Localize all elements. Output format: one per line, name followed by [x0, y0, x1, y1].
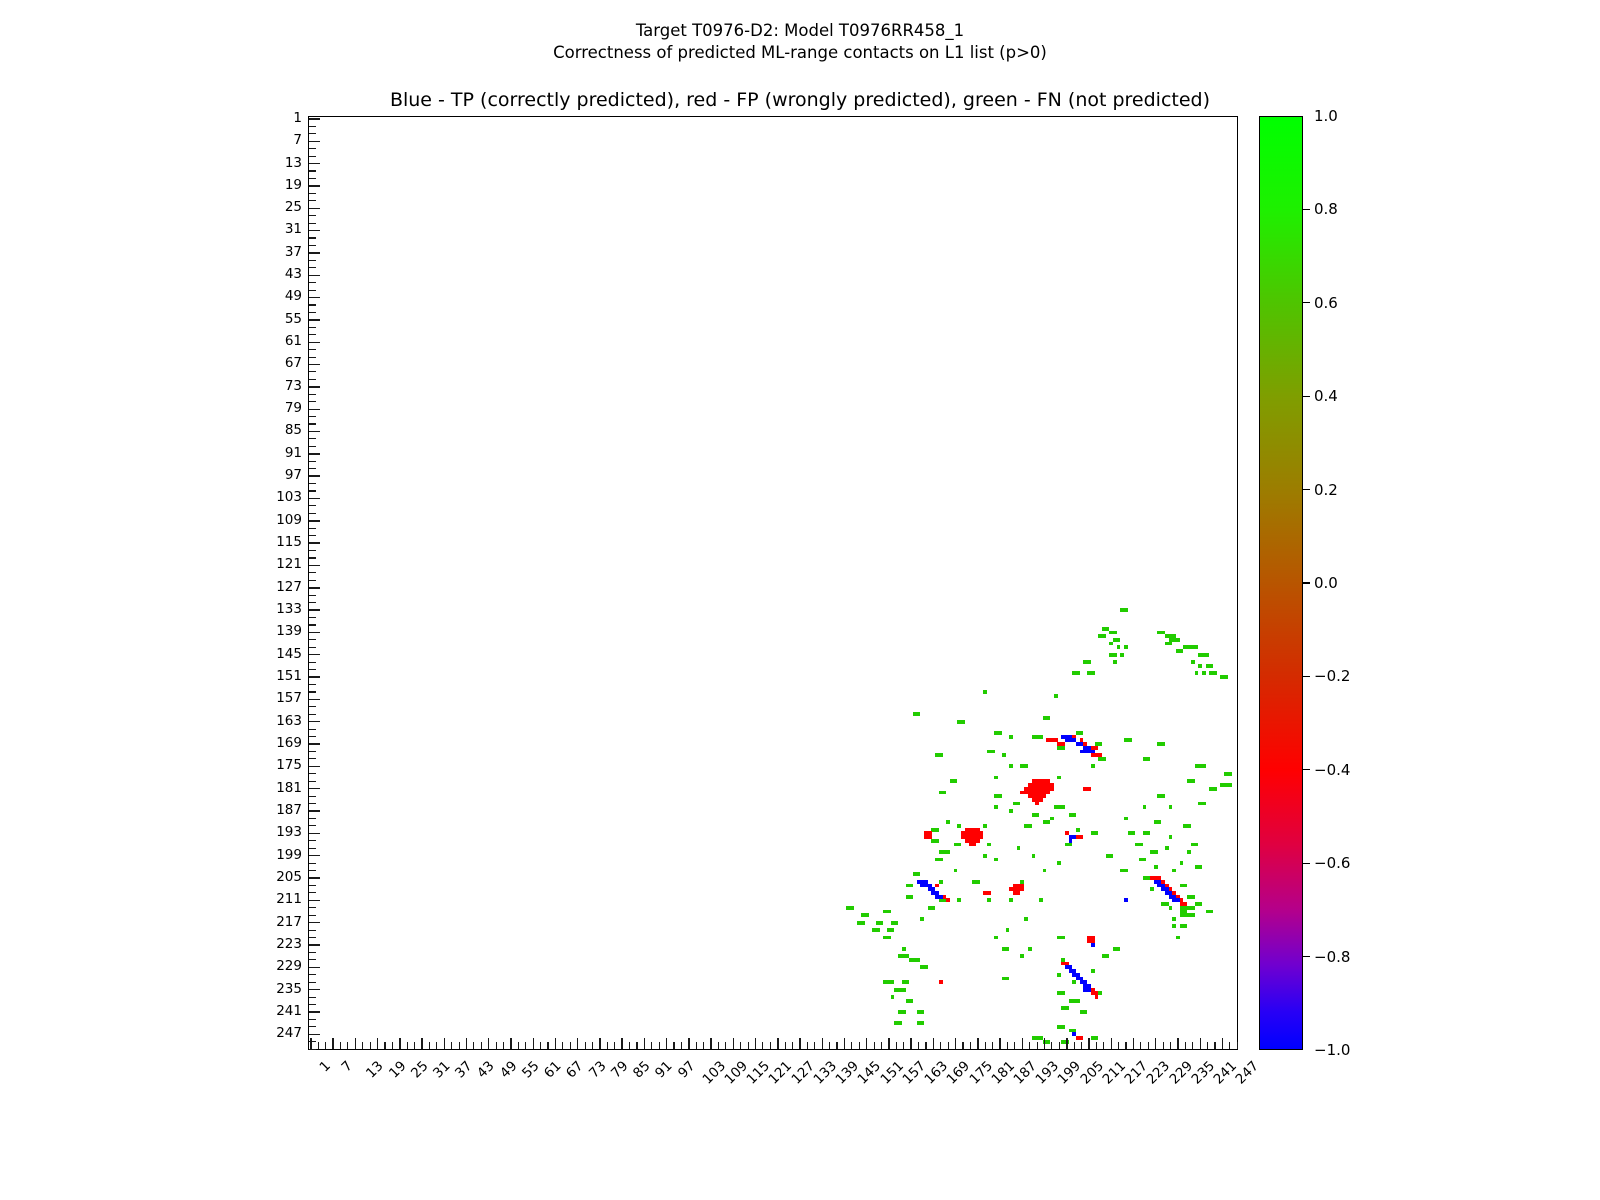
contact-cell-fn	[1157, 820, 1161, 824]
y-axis-minor-tick	[309, 550, 316, 551]
x-axis-minor-tick	[948, 1042, 949, 1049]
contact-cell-fn	[1102, 757, 1106, 761]
y-axis-major-tick	[309, 676, 320, 677]
y-axis-minor-tick	[309, 781, 316, 782]
y-axis-minor-tick	[309, 647, 316, 648]
x-axis-major-tick	[1200, 1038, 1201, 1049]
contact-cell-fn	[909, 895, 913, 899]
y-axis-minor-tick	[309, 483, 316, 484]
contact-cell-fn	[1113, 660, 1117, 664]
x-axis-minor-tick	[918, 1042, 919, 1049]
contact-cell-fn	[1161, 742, 1165, 746]
x-axis-minor-tick	[585, 1042, 586, 1049]
contact-cell-fp	[1017, 891, 1021, 895]
x-axis-minor-tick	[829, 1042, 830, 1049]
x-axis-minor-tick	[340, 1042, 341, 1049]
x-axis-major-tick	[644, 1038, 645, 1049]
contact-cell-fn	[1057, 861, 1061, 865]
colorbar-tick-label: 0.2	[1314, 481, 1338, 499]
x-axis-major-tick	[1022, 1038, 1023, 1049]
y-axis-tick-label: 211	[276, 891, 302, 907]
contact-cell-fn	[1061, 991, 1065, 995]
contact-cell-tp	[1072, 1032, 1076, 1036]
y-axis-minor-tick	[309, 394, 316, 395]
y-axis-minor-tick	[309, 528, 316, 529]
x-axis-major-tick	[799, 1038, 800, 1049]
contact-cell-fn	[1002, 753, 1006, 757]
contact-cell-fn	[946, 850, 950, 854]
y-axis-minor-tick	[309, 490, 316, 491]
x-axis-minor-tick	[629, 1042, 630, 1049]
contact-cell-fn	[902, 988, 906, 992]
contact-cell-fn	[935, 828, 939, 832]
contact-cell-fn	[1106, 954, 1110, 958]
contact-cell-fn	[957, 843, 961, 847]
contact-cell-fn	[1098, 742, 1102, 746]
x-axis-minor-tick	[1081, 1042, 1082, 1049]
contact-cell-fn	[1035, 813, 1039, 817]
contact-cell-fn	[946, 820, 950, 824]
y-axis-minor-tick	[309, 290, 316, 291]
colorbar-tick-label: −0.2	[1314, 667, 1350, 685]
contact-cell-fp	[935, 884, 939, 888]
x-axis-minor-tick	[1014, 1042, 1015, 1049]
y-axis-minor-tick	[309, 937, 316, 938]
y-axis-tick-label: 229	[276, 958, 302, 974]
x-axis-minor-tick	[681, 1042, 682, 1049]
contact-cell-fn	[920, 917, 924, 921]
y-axis-minor-tick	[309, 825, 316, 826]
y-axis-major-tick	[309, 409, 320, 410]
contact-cell-fn	[891, 980, 895, 984]
y-axis-major-tick	[309, 609, 320, 610]
x-axis-minor-tick	[614, 1042, 615, 1049]
contact-cell-fn	[1124, 817, 1128, 821]
x-axis-minor-tick	[1096, 1042, 1097, 1049]
contact-cell-fn	[1169, 642, 1173, 646]
contact-cell-fn	[1191, 779, 1195, 783]
x-axis-major-tick	[710, 1038, 711, 1049]
x-axis-minor-tick	[1229, 1042, 1230, 1049]
y-axis-minor-tick	[309, 863, 316, 864]
y-axis-minor-tick	[309, 691, 316, 692]
y-axis-major-tick	[309, 877, 320, 878]
x-axis-minor-tick	[836, 1042, 837, 1049]
y-axis-tick-label: 175	[276, 757, 302, 773]
y-axis-minor-tick	[309, 974, 316, 975]
colorbar-tick-label: 0.0	[1314, 574, 1338, 592]
x-axis-minor-tick	[1185, 1042, 1186, 1049]
x-axis-minor-tick	[318, 1042, 319, 1049]
y-axis-minor-tick	[309, 148, 316, 149]
x-axis-minor-tick	[962, 1042, 963, 1049]
contact-cell-fn	[1202, 671, 1206, 675]
x-axis-major-tick	[999, 1038, 1000, 1049]
y-axis-major-tick	[309, 542, 320, 543]
colorbar-tick	[1303, 489, 1310, 490]
y-axis-minor-tick	[309, 915, 316, 916]
contact-cell-fn	[920, 1021, 924, 1025]
y-axis-major-tick	[309, 118, 320, 119]
x-axis-minor-tick	[370, 1042, 371, 1049]
y-axis-tick-label: 1	[293, 110, 302, 126]
y-axis-major-tick	[309, 342, 320, 343]
contact-cell-fn	[924, 965, 928, 969]
y-axis-tick-label: 127	[276, 579, 302, 595]
y-axis-tick-label: 49	[285, 288, 302, 304]
x-axis-minor-tick	[1207, 1042, 1208, 1049]
y-axis-minor-tick	[309, 133, 316, 134]
contact-cell-fn	[1183, 924, 1187, 928]
y-axis-minor-tick	[309, 982, 316, 983]
contact-cell-fn	[931, 906, 935, 910]
y-axis-minor-tick	[309, 260, 316, 261]
y-axis-major-tick	[309, 163, 320, 164]
contact-cell-fn	[1124, 869, 1128, 873]
contact-cell-fn	[902, 947, 906, 951]
x-axis-minor-tick	[985, 1042, 986, 1049]
y-axis-minor-tick	[309, 416, 316, 417]
y-axis-minor-tick	[309, 1004, 316, 1005]
contact-cell-tp	[1176, 898, 1180, 902]
y-axis-tick-label: 241	[276, 1003, 302, 1019]
contact-cell-fn	[1069, 843, 1073, 847]
colorbar[interactable]: 1.00.80.60.40.20.0−0.2−0.4−0.6−0.8−1.0	[1259, 116, 1303, 1050]
y-axis-minor-tick	[309, 304, 316, 305]
x-axis-minor-tick	[807, 1042, 808, 1049]
colorbar-tick	[1303, 582, 1310, 583]
contact-cell-fn	[1202, 802, 1206, 806]
x-axis-major-tick	[1177, 1038, 1178, 1049]
y-axis-major-tick	[309, 386, 320, 387]
contact-cell-fn	[1187, 824, 1191, 828]
y-axis-minor-tick	[309, 327, 316, 328]
x-axis-tick-label: 247	[1233, 1058, 1263, 1088]
x-axis-minor-tick	[696, 1042, 697, 1049]
x-axis-minor-tick	[725, 1042, 726, 1049]
contact-cell-fn	[1039, 898, 1043, 902]
contact-cell-fn	[1187, 850, 1191, 854]
y-axis-tick-label: 205	[276, 869, 302, 885]
x-axis-tick-label: 67	[563, 1058, 586, 1081]
contact-cell-tp	[1087, 988, 1091, 992]
contact-cell-fp	[946, 898, 950, 902]
y-axis-major-tick	[309, 208, 320, 209]
x-axis-minor-tick	[1170, 1042, 1171, 1049]
contact-map-plot[interactable]	[308, 116, 1238, 1050]
x-axis-major-tick	[666, 1038, 667, 1049]
colorbar-tick-label: −1.0	[1314, 1041, 1350, 1059]
x-axis-minor-tick	[703, 1042, 704, 1049]
contact-cell-fn	[1172, 917, 1176, 921]
y-axis-minor-tick	[309, 580, 316, 581]
y-axis-major-tick	[309, 1034, 320, 1035]
x-axis-tick-label: 97	[675, 1058, 698, 1081]
y-axis-major-tick	[309, 900, 320, 901]
contact-cell-fn	[1009, 764, 1013, 768]
x-axis-major-tick	[1044, 1038, 1045, 1049]
y-axis-tick-label: 85	[285, 422, 302, 438]
contact-cell-fp	[928, 835, 932, 839]
contact-cell-fn	[917, 872, 921, 876]
y-axis-minor-tick	[309, 751, 316, 752]
contact-cell-fn	[1098, 991, 1102, 995]
x-axis-minor-tick	[970, 1042, 971, 1049]
y-axis-tick-label: 7	[293, 132, 302, 148]
contact-cell-fn	[850, 906, 854, 910]
contact-cell-fn	[1120, 653, 1124, 657]
contact-cell-fn	[1057, 973, 1061, 977]
contact-cell-fn	[1061, 936, 1065, 940]
contact-cell-fn	[954, 779, 958, 783]
y-axis-minor-tick	[309, 602, 316, 603]
x-axis-minor-tick	[1059, 1042, 1060, 1049]
y-axis-minor-tick	[309, 468, 316, 469]
x-axis-minor-tick	[1237, 1042, 1238, 1049]
y-axis-minor-tick	[309, 669, 316, 670]
x-axis-minor-tick	[651, 1042, 652, 1049]
contact-cell-fn	[1198, 902, 1202, 906]
x-axis-tick-label: 49	[497, 1058, 520, 1081]
x-axis-major-tick	[399, 1038, 400, 1049]
x-axis-minor-tick	[718, 1042, 719, 1049]
contact-cell-fn	[939, 753, 943, 757]
x-axis-major-tick	[866, 1038, 867, 1049]
y-axis-tick-label: 145	[276, 646, 302, 662]
contact-cell-fp	[972, 843, 976, 847]
y-axis-major-tick	[309, 922, 320, 923]
contact-cell-fn	[998, 731, 1002, 735]
x-axis-minor-tick	[1140, 1042, 1141, 1049]
y-axis-tick-label: 169	[276, 735, 302, 751]
contact-cell-fn	[976, 880, 980, 884]
colorbar-gradient	[1259, 116, 1303, 1050]
contact-cell-fn	[1095, 1036, 1099, 1040]
contact-cell-fn	[1046, 1040, 1050, 1044]
contact-cell-fn	[1191, 906, 1195, 910]
contact-cell-fn	[1046, 820, 1050, 824]
x-axis-minor-tick	[481, 1042, 482, 1049]
x-axis-major-tick	[555, 1038, 556, 1049]
contact-cell-fn	[935, 839, 939, 843]
y-axis-tick-label: 193	[276, 824, 302, 840]
y-axis-major-tick	[309, 699, 320, 700]
x-axis-tick-label: 25	[408, 1058, 431, 1081]
x-axis-minor-tick	[362, 1042, 363, 1049]
contact-cell-fn	[1228, 772, 1232, 776]
x-axis-minor-tick	[1214, 1042, 1215, 1049]
contact-cell-fn	[994, 805, 998, 809]
contact-cell-fn	[1198, 664, 1202, 668]
contact-cell-fn	[1072, 813, 1076, 817]
y-axis-major-tick	[309, 141, 320, 142]
x-axis-major-tick	[777, 1038, 778, 1049]
x-axis-minor-tick	[1051, 1042, 1052, 1049]
contact-cell-fn	[1128, 738, 1132, 742]
x-axis-minor-tick	[740, 1042, 741, 1049]
contact-cell-fn	[1083, 1010, 1087, 1014]
x-axis-minor-tick	[792, 1042, 793, 1049]
contact-cell-fn	[917, 712, 921, 716]
x-axis-minor-tick	[1103, 1042, 1104, 1049]
y-axis-major-tick	[309, 654, 320, 655]
y-axis-minor-tick	[309, 178, 316, 179]
contact-cell-fn	[1024, 917, 1028, 921]
contact-cell-fn	[902, 1010, 906, 1014]
contact-cell-fn	[887, 936, 891, 940]
y-axis-minor-tick	[309, 312, 316, 313]
contact-cell-fn	[1072, 980, 1076, 984]
x-axis-major-tick	[933, 1038, 934, 1049]
contact-cell-fn	[861, 921, 865, 925]
y-axis-minor-tick	[309, 662, 316, 663]
y-axis-minor-tick	[309, 513, 316, 514]
y-axis-minor-tick	[309, 796, 316, 797]
y-axis-tick-label: 181	[276, 780, 302, 796]
contact-cell-fn	[891, 995, 895, 999]
contact-cell-fn	[1043, 869, 1047, 873]
x-axis-tick-label: 61	[541, 1058, 564, 1081]
contact-cell-fn	[1032, 854, 1036, 858]
y-axis-major-tick	[309, 475, 320, 476]
contact-cell-fn	[1191, 895, 1195, 899]
y-axis-minor-tick	[309, 193, 316, 194]
colorbar-tick	[1303, 302, 1310, 303]
contact-cell-fn	[1020, 954, 1024, 958]
contact-cell-fn	[1198, 865, 1202, 869]
y-axis-tick-label: 109	[276, 512, 302, 528]
y-axis-tick-label: 151	[276, 668, 302, 684]
y-axis-tick-label: 97	[285, 467, 302, 483]
contact-cell-fn	[1009, 809, 1013, 813]
x-axis-minor-tick	[503, 1042, 504, 1049]
y-axis-tick-label: 139	[276, 623, 302, 639]
x-axis-minor-tick	[1163, 1042, 1164, 1049]
contact-cell-fp	[1043, 794, 1047, 798]
contact-cell-fn	[1209, 910, 1213, 914]
x-axis-minor-tick	[436, 1042, 437, 1049]
x-axis-minor-tick	[659, 1042, 660, 1049]
contact-cell-tp	[1124, 898, 1128, 902]
contact-cell-fn	[1054, 694, 1058, 698]
contact-cell-fn	[1195, 645, 1199, 649]
contact-cell-fn	[1154, 865, 1158, 869]
x-axis-minor-tick	[903, 1042, 904, 1049]
contact-cell-fn	[1076, 999, 1080, 1003]
contact-cell-fn	[1102, 634, 1106, 638]
x-axis-minor-tick	[859, 1042, 860, 1049]
y-axis-minor-tick	[309, 818, 316, 819]
contact-cell-fn	[1091, 671, 1095, 675]
x-axis-minor-tick	[325, 1042, 326, 1049]
x-axis-minor-tick	[496, 1042, 497, 1049]
y-axis-tick-label: 55	[285, 311, 302, 327]
y-axis-major-tick	[309, 743, 320, 744]
y-axis-tick-label: 217	[276, 914, 302, 930]
y-axis-minor-tick	[309, 267, 316, 268]
contact-cell-fn	[1209, 664, 1213, 668]
contact-cell-fn	[1046, 716, 1050, 720]
contact-cell-fn	[1176, 936, 1180, 940]
y-axis-major-tick	[309, 989, 320, 990]
x-axis-major-tick	[533, 1038, 534, 1049]
contact-cell-fn	[917, 958, 921, 962]
contact-cell-fn	[1191, 913, 1195, 917]
x-axis-major-tick	[1066, 1038, 1067, 1049]
x-axis-minor-tick	[518, 1042, 519, 1049]
x-axis-tick-label: 31	[430, 1058, 453, 1081]
y-axis-major-tick	[309, 1011, 320, 1012]
x-axis-minor-tick	[925, 1042, 926, 1049]
contact-cell-fn	[1109, 854, 1113, 858]
y-axis-minor-tick	[309, 892, 316, 893]
contact-cell-fn	[1143, 805, 1147, 809]
contact-cell-fp	[1080, 835, 1084, 839]
x-axis-major-tick	[844, 1038, 845, 1049]
contact-cell-fn	[1191, 660, 1195, 664]
y-axis-minor-tick	[309, 624, 316, 625]
y-axis-minor-tick	[309, 215, 316, 216]
x-axis-major-tick	[310, 1038, 311, 1049]
x-axis-labels: 1713192531374349556167737985919710310911…	[0, 1050, 1600, 1200]
y-axis-major-tick	[309, 565, 320, 566]
x-axis-major-tick	[977, 1038, 978, 1049]
x-axis-minor-tick	[1118, 1042, 1119, 1049]
x-axis-minor-tick	[407, 1042, 408, 1049]
y-axis-minor-tick	[309, 773, 316, 774]
contact-cell-fn	[1076, 828, 1080, 832]
contact-cell-fn	[1117, 645, 1121, 649]
y-axis-tick-label: 235	[276, 981, 302, 997]
contact-cell-fn	[1028, 947, 1032, 951]
y-axis-tick-label: 199	[276, 847, 302, 863]
contact-cell-fn	[957, 898, 961, 902]
y-axis-minor-tick	[309, 952, 316, 953]
colorbar-tick	[1303, 863, 1310, 864]
contact-cell-fn	[1172, 869, 1176, 873]
contact-cell-fn	[906, 980, 910, 984]
y-axis-major-tick	[309, 788, 320, 789]
contact-cell-fn	[865, 913, 869, 917]
contact-cell-fn	[1061, 1025, 1065, 1029]
y-axis-minor-tick	[309, 572, 316, 573]
contact-cell-fn	[1124, 645, 1128, 649]
y-axis-minor-tick	[309, 200, 316, 201]
y-axis-minor-tick	[309, 357, 316, 358]
x-axis-tick-label: 85	[630, 1058, 653, 1081]
x-axis-major-tick	[1155, 1038, 1156, 1049]
y-axis-tick-label: 61	[285, 333, 302, 349]
y-axis-minor-tick	[309, 237, 316, 238]
contact-cell-fn	[1180, 861, 1184, 865]
y-axis-major-tick	[309, 319, 320, 320]
contact-cell-tp	[1091, 943, 1095, 947]
x-axis-minor-tick	[592, 1042, 593, 1049]
contact-cell-fn	[939, 880, 943, 884]
contact-cell-fn	[1172, 924, 1176, 928]
contact-cell-tp	[1091, 750, 1095, 754]
y-axis-tick-label: 79	[285, 400, 302, 416]
y-axis-tick-label: 73	[285, 378, 302, 394]
x-axis-major-tick	[733, 1038, 734, 1049]
y-axis-tick-label: 121	[276, 556, 302, 572]
y-axis-minor-tick	[309, 245, 316, 246]
x-axis-minor-tick	[459, 1042, 460, 1049]
y-axis-tick-label: 91	[285, 445, 302, 461]
y-axis-major-tick	[309, 810, 320, 811]
y-axis-major-tick	[309, 185, 320, 186]
contact-cell-fn	[1050, 817, 1054, 821]
